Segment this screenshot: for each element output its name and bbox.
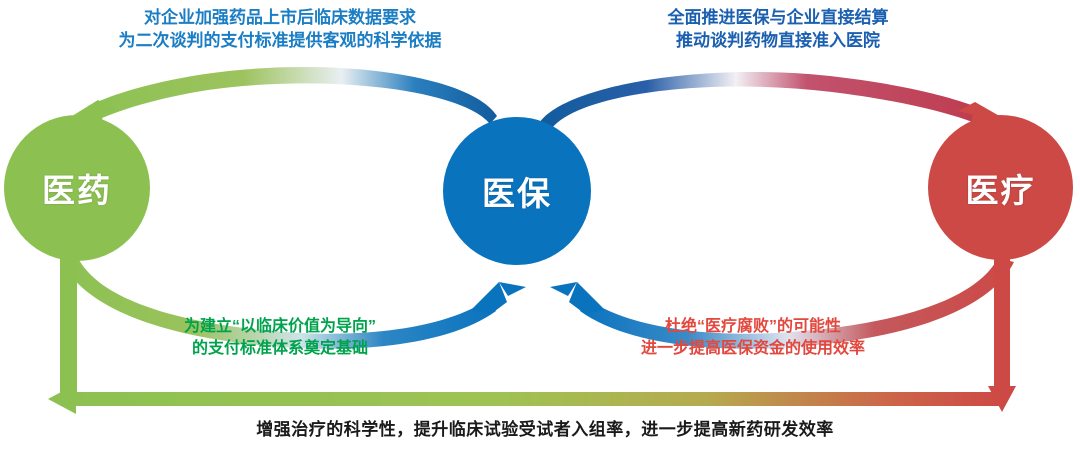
- caption-bottom-left: 为建立“以临床价值为导向” 的支付标准体系奠定基础: [110, 316, 450, 360]
- arrow-insurance-to-medicine: [64, 67, 497, 130]
- node-insurance-label: 医保: [482, 167, 552, 215]
- node-medicine[interactable]: 医药: [4, 115, 150, 261]
- caption-top-left: 对企业加强药品上市后临床数据要求 为二次谈判的支付标准提供客观的科学依据: [75, 6, 485, 53]
- node-insurance[interactable]: 医保: [443, 117, 591, 265]
- diagram-canvas: 医药 医保 医疗 对企业加强药品上市后临床数据要求 为二次谈判的支付标准提供客观…: [0, 0, 1080, 452]
- node-medicine-label: 医药: [42, 164, 112, 212]
- caption-top-right: 全面推进医保与企业直接结算 推动谈判药物直接准入医院: [578, 6, 978, 53]
- caption-footer: 增强治疗的科学性，提升临床试验受试者入组率，进一步提高新药研发效率: [90, 418, 1000, 441]
- arrow-insurance-to-healthcare: [540, 72, 1010, 131]
- node-healthcare[interactable]: 医疗: [928, 115, 1073, 260]
- caption-bottom-right: 杜绝“医疗腐败”的可能性 进一步提高医保资金的使用效率: [578, 316, 928, 360]
- node-healthcare-label: 医疗: [966, 164, 1036, 212]
